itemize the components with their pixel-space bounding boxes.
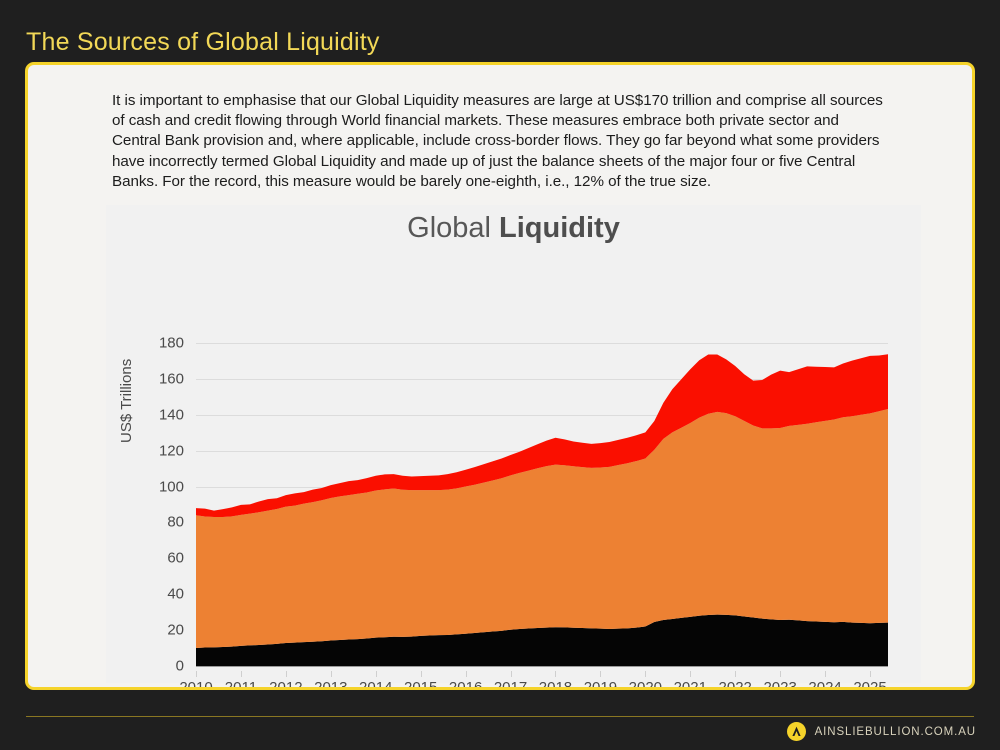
x-tick-label-2022: 2022	[719, 679, 752, 690]
chart-panel: Global Liquidity 02040608010012014016018…	[106, 205, 921, 683]
y-tick-label-40: 40	[167, 586, 184, 603]
body-paragraph: It is important to emphasise that our Gl…	[112, 91, 888, 192]
x-tick-label-2020: 2020	[629, 679, 662, 690]
x-tick-mark-2023	[780, 671, 781, 677]
y-tick-label-20: 20	[167, 622, 184, 639]
x-tick-mark-2011	[241, 671, 242, 677]
y-tick-label-160: 160	[159, 370, 184, 387]
footer-brand[interactable]: AINSLIEBULLION.COM.AU	[787, 722, 976, 741]
y-tick-label-100: 100	[159, 478, 184, 495]
x-tick-label-2011: 2011	[225, 679, 257, 690]
y-tick-label-180: 180	[159, 335, 184, 352]
footer-divider	[26, 716, 974, 717]
page-title: The Sources of Global Liquidity	[26, 28, 380, 57]
x-tick-label-2010: 2010	[179, 679, 212, 690]
gridline-0	[196, 666, 888, 667]
x-tick-mark-2024	[825, 671, 826, 677]
x-tick-mark-2016	[466, 671, 467, 677]
x-tick-mark-2025	[870, 671, 871, 677]
x-tick-mark-2017	[511, 671, 512, 677]
x-tick-label-2014: 2014	[359, 679, 392, 690]
chart-title-bold: Liquidity	[499, 212, 620, 244]
y-tick-label-120: 120	[159, 442, 184, 459]
y-axis-title: US$ Trillions	[118, 359, 135, 443]
plot-area	[196, 343, 888, 666]
x-tick-mark-2022	[735, 671, 736, 677]
x-tick-mark-2010	[196, 671, 197, 677]
y-tick-label-140: 140	[159, 406, 184, 423]
brand-text: AINSLIEBULLION.COM.AU	[815, 726, 976, 738]
y-tick-label-60: 60	[167, 550, 184, 567]
x-tick-mark-2013	[331, 671, 332, 677]
x-axis: 2010201120122013201420152016201720182019…	[196, 671, 888, 690]
x-tick-mark-2018	[555, 671, 556, 677]
x-tick-label-2012: 2012	[269, 679, 302, 690]
x-tick-label-2015: 2015	[404, 679, 437, 690]
x-tick-label-2025: 2025	[853, 679, 886, 690]
x-tick-label-2018: 2018	[539, 679, 572, 690]
x-tick-mark-2015	[421, 671, 422, 677]
x-tick-mark-2014	[376, 671, 377, 677]
chart-title: Global Liquidity	[106, 212, 921, 245]
x-tick-label-2017: 2017	[494, 679, 527, 690]
y-tick-label-0: 0	[176, 658, 184, 675]
x-tick-label-2019: 2019	[584, 679, 617, 690]
x-tick-label-2013: 2013	[314, 679, 347, 690]
content-card: It is important to emphasise that our Gl…	[25, 62, 975, 690]
x-tick-mark-2020	[645, 671, 646, 677]
chart-title-regular: Global	[407, 212, 491, 244]
x-tick-label-2021: 2021	[674, 679, 707, 690]
x-tick-mark-2019	[600, 671, 601, 677]
stacked-area-series	[196, 343, 888, 666]
x-tick-label-2023: 2023	[763, 679, 796, 690]
y-tick-label-80: 80	[167, 514, 184, 531]
x-tick-label-2024: 2024	[808, 679, 841, 690]
x-tick-label-2016: 2016	[449, 679, 482, 690]
x-tick-mark-2012	[286, 671, 287, 677]
ainslie-a-logo-icon	[787, 722, 806, 741]
x-tick-mark-2021	[690, 671, 691, 677]
